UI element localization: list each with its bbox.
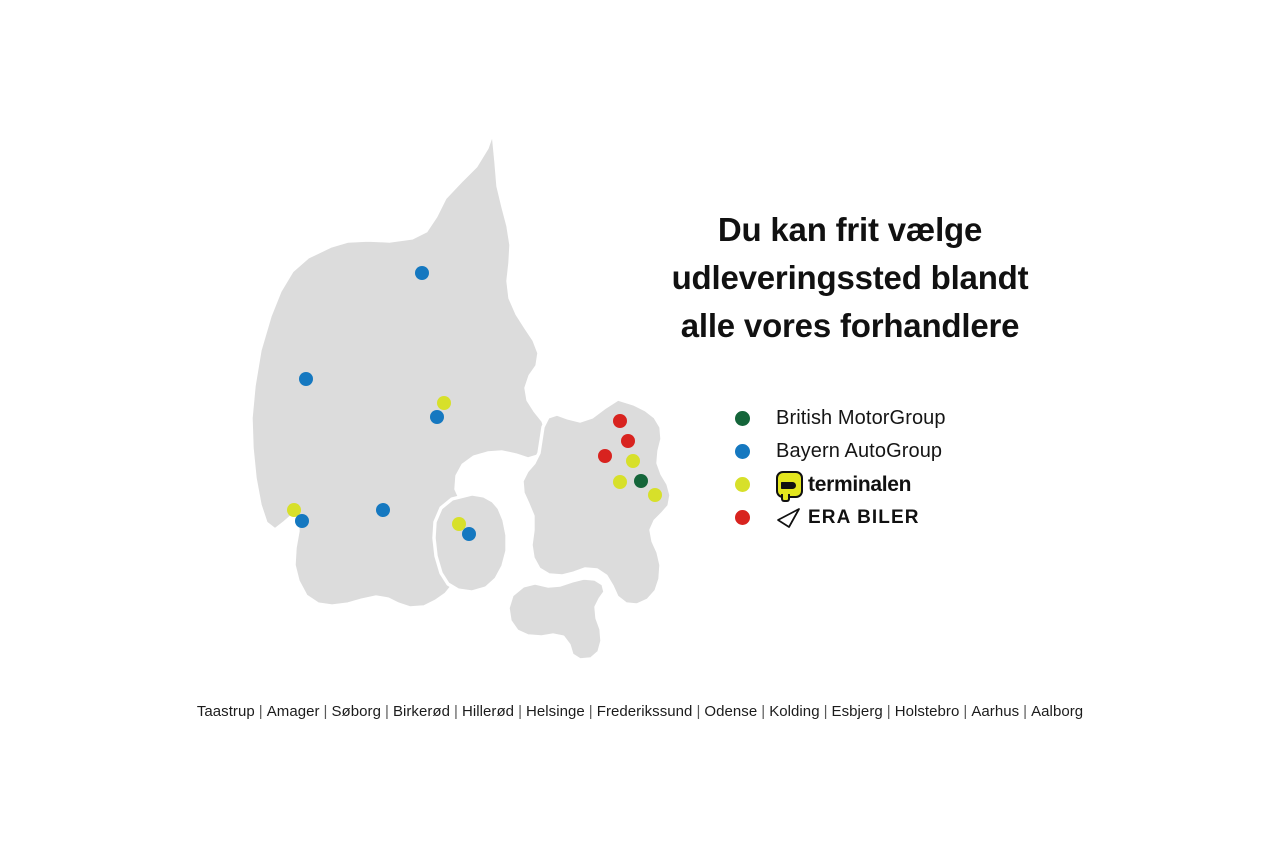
title-line-2: udleveringssted blandt (652, 254, 1048, 302)
map-dot-bayern-autogroup[interactable] (415, 266, 429, 280)
map-dot-era-biler[interactable] (621, 434, 635, 448)
map-dot-bayern-autogroup[interactable] (376, 503, 390, 517)
legend-item-bayern-autogroup[interactable]: Bayern AutoGroup (735, 435, 1065, 468)
brand-legend: British MotorGroup Bayern AutoGroup term… (735, 402, 1065, 534)
map-dot-era-biler[interactable] (598, 449, 612, 463)
city-separator: | (883, 703, 895, 720)
legend-item-label: Bayern AutoGroup (776, 440, 942, 463)
map-dot-bayern-autogroup[interactable] (295, 514, 309, 528)
city-name: Taastrup (197, 703, 255, 720)
city-name: Birkerød (393, 703, 450, 720)
city-name: Odense (704, 703, 757, 720)
legend-item-label: terminalen (808, 473, 911, 497)
map-dot-terminalen[interactable] (648, 488, 662, 502)
legend-item-era-biler[interactable]: ERA BILER (735, 501, 1065, 534)
city-name: Helsinge (526, 703, 585, 720)
map-dot-layer (240, 118, 700, 670)
city-name: Aarhus (971, 703, 1019, 720)
map-dot-terminalen[interactable] (626, 454, 640, 468)
city-separator: | (320, 703, 332, 720)
city-name: Holstebro (895, 703, 960, 720)
legend-swatch-icon (735, 411, 750, 426)
city-name: Amager (267, 703, 320, 720)
city-name: Søborg (332, 703, 382, 720)
map-dot-bayern-autogroup[interactable] (299, 372, 313, 386)
city-list: Taastrup|Amager|Søborg|Birkerød|Hillerød… (0, 703, 1280, 720)
title-line-3: alle vores forhandlere (652, 302, 1048, 350)
map-dot-terminalen[interactable] (613, 475, 627, 489)
city-name: Kolding (769, 703, 819, 720)
map-dot-era-biler[interactable] (613, 414, 627, 428)
city-separator: | (585, 703, 597, 720)
city-separator: | (255, 703, 267, 720)
city-separator: | (959, 703, 971, 720)
terminalen-logo-icon (776, 471, 803, 498)
map-dot-bayern-autogroup[interactable] (430, 410, 444, 424)
legend-item-terminalen[interactable]: terminalen (735, 468, 1065, 501)
page-title: Du kan frit vælge udleveringssted blandt… (652, 206, 1048, 350)
map-dot-british-motorgroup[interactable] (634, 474, 648, 488)
denmark-map (240, 118, 700, 670)
city-separator: | (450, 703, 462, 720)
city-separator: | (757, 703, 769, 720)
legend-swatch-icon (735, 477, 750, 492)
terminalen-brand: terminalen (776, 471, 911, 498)
legend-item-label: ERA BILER (808, 507, 920, 529)
city-separator: | (820, 703, 832, 720)
legend-item-label: British MotorGroup (776, 407, 946, 430)
city-name: Hillerød (462, 703, 514, 720)
city-name: Esbjerg (832, 703, 883, 720)
legend-swatch-icon (735, 444, 750, 459)
city-separator: | (692, 703, 704, 720)
city-name: Aalborg (1031, 703, 1083, 720)
era-biler-brand: ERA BILER (776, 507, 920, 529)
legend-item-british-motorgroup[interactable]: British MotorGroup (735, 402, 1065, 435)
map-dot-bayern-autogroup[interactable] (462, 527, 476, 541)
city-name: Frederikssund (597, 703, 693, 720)
legend-swatch-icon (735, 510, 750, 525)
city-separator: | (1019, 703, 1031, 720)
city-separator: | (381, 703, 393, 720)
city-separator: | (514, 703, 526, 720)
map-dot-terminalen[interactable] (437, 396, 451, 410)
era-biler-logo-icon (776, 507, 802, 529)
poster-canvas: Du kan frit vælge udleveringssted blandt… (0, 0, 1280, 853)
title-line-1: Du kan frit vælge (652, 206, 1048, 254)
